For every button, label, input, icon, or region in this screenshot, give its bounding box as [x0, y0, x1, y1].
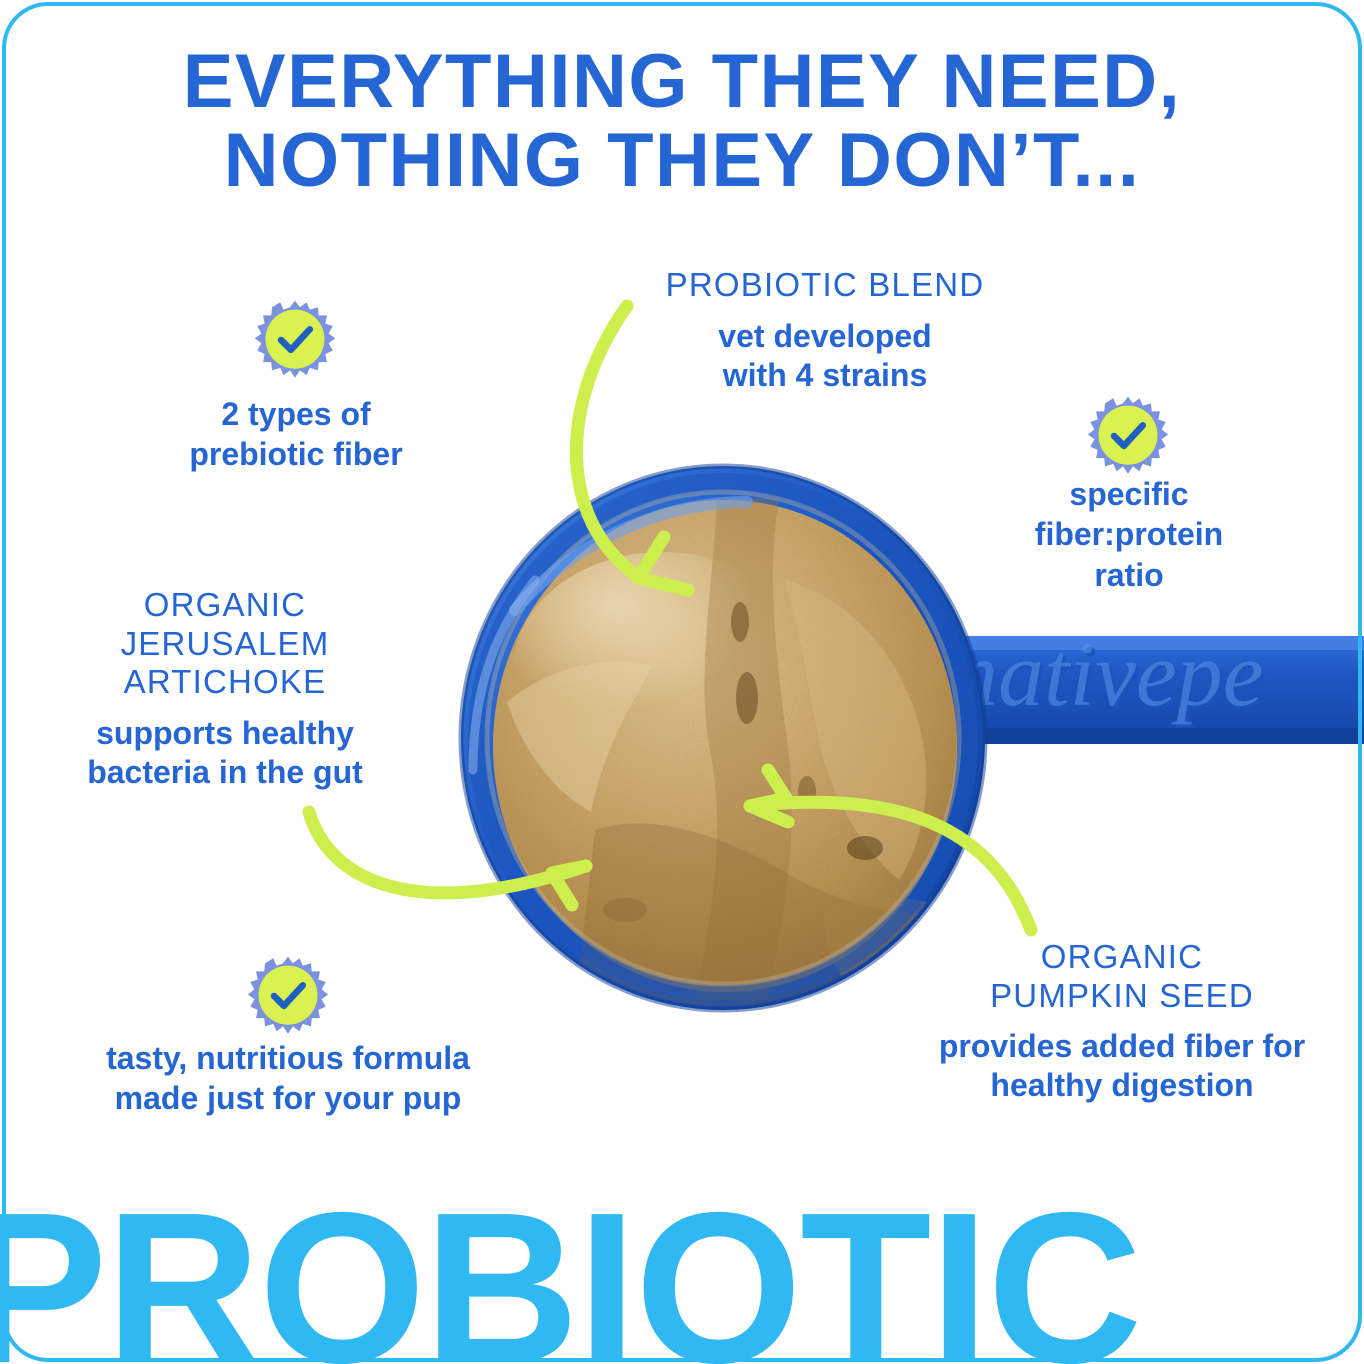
check-badge-icon-tasty-formula [247, 955, 329, 1037]
headline-line-1: EVERYTHING THEY NEED, [0, 42, 1364, 121]
callout-probiotic-blend-title: PROBIOTIC BLEND [600, 266, 1050, 305]
headline-line-2: NOTHING THEY DON’T... [0, 121, 1364, 200]
scoop-embossed-highlight: nativepe [952, 623, 1264, 725]
callout-pumpkin-seed-text: provides added fiber for healthy digesti… [912, 1027, 1332, 1105]
callout-prebiotic-fiber-text: 2 types of prebiotic fiber [118, 394, 474, 475]
callout-pumpkin-seed-title: ORGANIC PUMPKIN SEED [912, 938, 1332, 1015]
check-badge-icon-prebiotic-fiber [254, 299, 336, 381]
callout-tasty-formula-text: tasty, nutritious formula made just for … [60, 1038, 516, 1119]
page-title: EVERYTHING THEY NEED, NOTHING THEY DON’T… [0, 42, 1364, 200]
callout-jerusalem-artichoke-title: ORGANIC JERUSALEM ARTICHOKE [38, 586, 412, 702]
callout-fiber-protein-ratio: specific fiber:protein ratio [983, 474, 1275, 595]
check-badge-icon-fiber-protein-ratio [1087, 395, 1169, 477]
callout-pumpkin-seed: ORGANIC PUMPKIN SEED provides added fibe… [912, 938, 1332, 1105]
callout-prebiotic-fiber: 2 types of prebiotic fiber [118, 394, 474, 475]
bottom-banner-word: PROBIOTIC [0, 1186, 1364, 1364]
callout-probiotic-blend-text: vet developed with 4 strains [600, 317, 1050, 395]
callout-jerusalem-artichoke-text: supports healthy bacteria in the gut [38, 714, 412, 792]
callout-fiber-protein-ratio-text: specific fiber:protein ratio [983, 474, 1275, 595]
callout-tasty-formula: tasty, nutritious formula made just for … [60, 1038, 516, 1119]
infographic-canvas: EVERYTHING THEY NEED, NOTHING THEY DON’T… [0, 0, 1364, 1364]
callout-jerusalem-artichoke: ORGANIC JERUSALEM ARTICHOKE supports hea… [38, 586, 412, 792]
callout-probiotic-blend: PROBIOTIC BLEND vet developed with 4 str… [600, 266, 1050, 395]
